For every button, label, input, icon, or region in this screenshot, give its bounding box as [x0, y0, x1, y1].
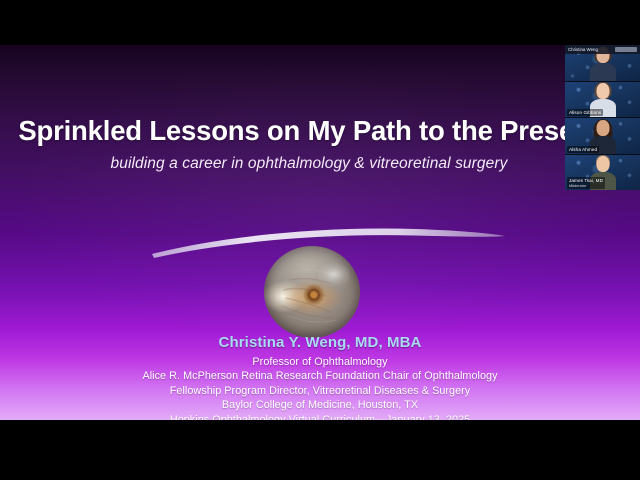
video-tile-participant-1[interactable]: Christina Weng: [565, 45, 640, 82]
retina-fundus-photograph: [264, 246, 360, 338]
slide-author-block: Christina Y. Weng, MD, MBA Professor of …: [0, 334, 640, 420]
participant-name-text: James Tsai, MD: [569, 178, 603, 183]
torso: [590, 63, 616, 81]
author-credit-lines: Professor of Ophthalmology Alice R. McPh…: [0, 355, 640, 420]
slide-title: Sprinkled Lessons on My Path to the Pres…: [0, 117, 640, 146]
slide-subtitle: building a career in ophthalmology & vit…: [0, 155, 640, 173]
author-name: Christina Y. Weng, MD, MBA: [0, 334, 640, 351]
participant-name-label: Aisha Ahmed: [567, 146, 599, 153]
letterbox-bar-bottom: [0, 420, 640, 480]
video-tile-toolbar[interactable]: Christina Weng: [565, 45, 640, 54]
video-tile-participant-3[interactable]: Aisha Ahmed: [565, 118, 640, 155]
retinal-vessels: [264, 246, 360, 338]
head: [596, 83, 609, 99]
tile-toolbar-pill[interactable]: [615, 47, 637, 52]
screen-recording-frame: Sprinkled Lessons on My Path to the Pres…: [0, 0, 640, 480]
video-tile-participant-4[interactable]: James Tsai, MD Moderator: [565, 155, 640, 191]
credit-line: Baylor College of Medicine, Houston, TX: [0, 398, 640, 412]
video-participant-panel[interactable]: Christina Weng Alison Gibbons: [565, 45, 640, 190]
participant-name-label: Alison Gibbons: [567, 109, 603, 116]
slide-title-block: Sprinkled Lessons on My Path to the Pres…: [0, 117, 640, 173]
credit-line: Hopkins Ophthalmology Virtual Curriculum…: [0, 413, 640, 420]
tile-toolbar-label: Christina Weng: [568, 47, 598, 53]
participant-name-text: Alison Gibbons: [569, 110, 601, 115]
video-tile-participant-2[interactable]: Alison Gibbons: [565, 82, 640, 119]
head: [596, 156, 609, 172]
participant-name-text: Aisha Ahmed: [569, 147, 597, 152]
fundus-image-disc: [264, 246, 360, 338]
letterbox-bar-top: [0, 0, 640, 45]
credit-line: Fellowship Program Director, Vitreoretin…: [0, 384, 640, 398]
head: [596, 120, 609, 136]
credit-line: Alice R. McPherson Retina Research Found…: [0, 369, 640, 383]
presentation-slide: Sprinkled Lessons on My Path to the Pres…: [0, 45, 640, 420]
participant-role-text: Moderator: [569, 184, 603, 189]
participant-name-label: James Tsai, MD Moderator: [567, 177, 605, 189]
credit-line: Professor of Ophthalmology: [0, 355, 640, 369]
